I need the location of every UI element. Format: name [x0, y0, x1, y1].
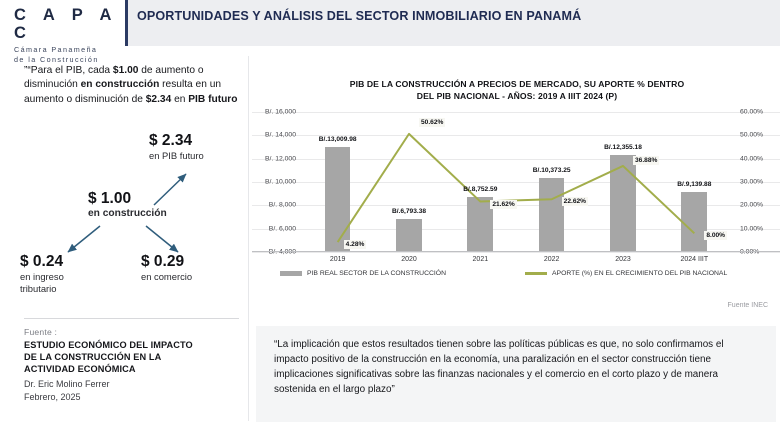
- x-axis-tick-label: 2019: [330, 256, 346, 263]
- arrow-to-comercio: [146, 226, 178, 252]
- diagram-node-ingreso-tributario-label: en ingreso tributario: [20, 271, 86, 295]
- legend-line-swatch-icon: [525, 272, 547, 275]
- line-value-label: 50.62%: [419, 118, 445, 127]
- diagram-node-construccion-amount: $ 1.00: [88, 190, 167, 208]
- diagram-node-pib-futuro-amount: $ 2.34: [149, 132, 204, 150]
- gridline: [252, 252, 780, 253]
- source-title-line2: DE LA CONSTRUCCIÓN EN LA: [24, 351, 249, 363]
- impact-diagram: $ 2.34 en PIB futuro $ 1.00 en construcc…: [6, 128, 250, 308]
- bottom-quote-text: “La implicación que estos resultados tie…: [274, 338, 760, 397]
- x-axis-tick-label: 2020: [401, 256, 417, 263]
- diagram-node-ingreso-tributario-amount: $ 0.24: [20, 253, 86, 271]
- chart-x-axis-line: [252, 251, 780, 252]
- bar-value-label: B/.13,009.98: [319, 136, 357, 143]
- chart-plot-area: B/. 16,000B/. 14,000B/. 12,000B/. 10,000…: [252, 112, 780, 252]
- diagram-node-construccion: $ 1.00 en construcción: [88, 190, 167, 221]
- chart-source-note: Fuente INEC: [728, 302, 768, 309]
- slide-header: C A P A C Cámara Panameña de la Construc…: [0, 0, 780, 46]
- legend-item-line: APORTE (%) EN EL CRECIMIENTO DEL PIB NAC…: [525, 270, 727, 277]
- capac-logo-subtitle-line1: Cámara Panameña: [14, 45, 122, 55]
- lead-quote-b4: PIB futuro: [188, 94, 237, 105]
- source-block: Fuente : ESTUDIO ECONÓMICO DEL IMPACTO D…: [24, 327, 249, 403]
- source-date: Febrero, 2025: [24, 391, 249, 403]
- slide-root: C A P A C Cámara Panameña de la Construc…: [0, 0, 780, 431]
- diagram-node-construccion-label: en construcción: [88, 208, 167, 221]
- lead-quote-b1: $1.00: [113, 65, 139, 76]
- lead-quote: ”“Para el PIB, cada $1.00 de aumento o d…: [24, 64, 246, 107]
- lead-quote-p4: en: [171, 94, 188, 105]
- line-value-label: 36.88%: [633, 156, 659, 165]
- chart-container: PIB DE LA CONSTRUCCIÓN A PRECIOS DE MERC…: [252, 54, 780, 312]
- source-title: ESTUDIO ECONÓMICO DEL IMPACTO DE LA CONS…: [24, 339, 249, 375]
- x-axis-tick-label: 2023: [615, 256, 631, 263]
- diagram-node-ingreso-tributario: $ 0.24 en ingreso tributario: [20, 253, 86, 295]
- bar-value-label: B/.12,355.18: [604, 144, 642, 151]
- lead-quote-b2: en construcción: [81, 79, 160, 90]
- diagram-node-pib-futuro: $ 2.34 en PIB futuro: [149, 132, 204, 162]
- source-title-line3: ACTIVIDAD ECONÓMICA: [24, 363, 249, 375]
- x-axis-tick-label: 2021: [473, 256, 489, 263]
- title-band: [125, 0, 780, 46]
- page-title: OPORTUNIDADES Y ANÁLISIS DEL SECTOR INMO…: [137, 9, 767, 23]
- line-value-label: 21.62%: [490, 200, 516, 209]
- source-author: Dr. Eric Molino Ferrer: [24, 378, 249, 390]
- diagram-node-pib-futuro-label: en PIB futuro: [149, 150, 204, 162]
- bottom-quote-box: “La implicación que estos resultados tie…: [256, 326, 776, 422]
- bar-value-label: B/.10,373.25: [533, 167, 571, 174]
- line-value-label: 22.62%: [562, 197, 588, 206]
- lead-quote-p1: ”“Para el PIB, cada: [24, 65, 113, 76]
- diagram-node-comercio-label: en comercio: [141, 271, 192, 283]
- bar-value-label: B/.8,752.59: [463, 186, 497, 193]
- capac-logo: C A P A C Cámara Panameña de la Construc…: [14, 6, 122, 65]
- legend-item-line-label: APORTE (%) EN EL CRECIMIENTO DEL PIB NAC…: [552, 270, 727, 277]
- arrow-to-ingreso-tributario: [68, 226, 100, 252]
- source-title-line1: ESTUDIO ECONÓMICO DEL IMPACTO: [24, 339, 249, 351]
- capac-logo-wordmark: C A P A C: [14, 6, 122, 42]
- source-label: Fuente :: [24, 327, 249, 337]
- chart-x-axis-categories: 201920202021202220232024 IIIT: [252, 256, 780, 270]
- legend-item-bars: PIB REAL SECTOR DE LA CONSTRUCCIÓN: [280, 270, 446, 277]
- x-axis-tick-label: 2022: [544, 256, 560, 263]
- diagram-node-comercio-amount: $ 0.29: [141, 253, 192, 271]
- source-divider: [24, 318, 239, 319]
- diagram-node-comercio: $ 0.29 en comercio: [141, 253, 192, 283]
- capac-logo-subtitle: Cámara Panameña de la Construcción: [14, 45, 122, 64]
- lead-quote-b3: $2.34: [146, 94, 172, 105]
- chart-title-line2: DEL PIB NACIONAL - AÑOS: 2019 A IIIT 202…: [292, 90, 742, 102]
- x-axis-tick-label: 2024 IIIT: [681, 256, 709, 263]
- line-value-label: 4.28%: [344, 240, 367, 249]
- legend-bar-swatch-icon: [280, 271, 302, 276]
- legend-item-bars-label: PIB REAL SECTOR DE LA CONSTRUCCIÓN: [307, 270, 446, 277]
- chart-title-line1: PIB DE LA CONSTRUCCIÓN A PRECIOS DE MERC…: [292, 78, 742, 90]
- chart-title: PIB DE LA CONSTRUCCIÓN A PRECIOS DE MERC…: [292, 78, 742, 103]
- bar-value-label: B/.6,793.38: [392, 208, 426, 215]
- line-value-label: 8.00%: [704, 231, 727, 240]
- title-accent-rule: [125, 0, 128, 46]
- bar-value-label: B/.9,139.88: [677, 181, 711, 188]
